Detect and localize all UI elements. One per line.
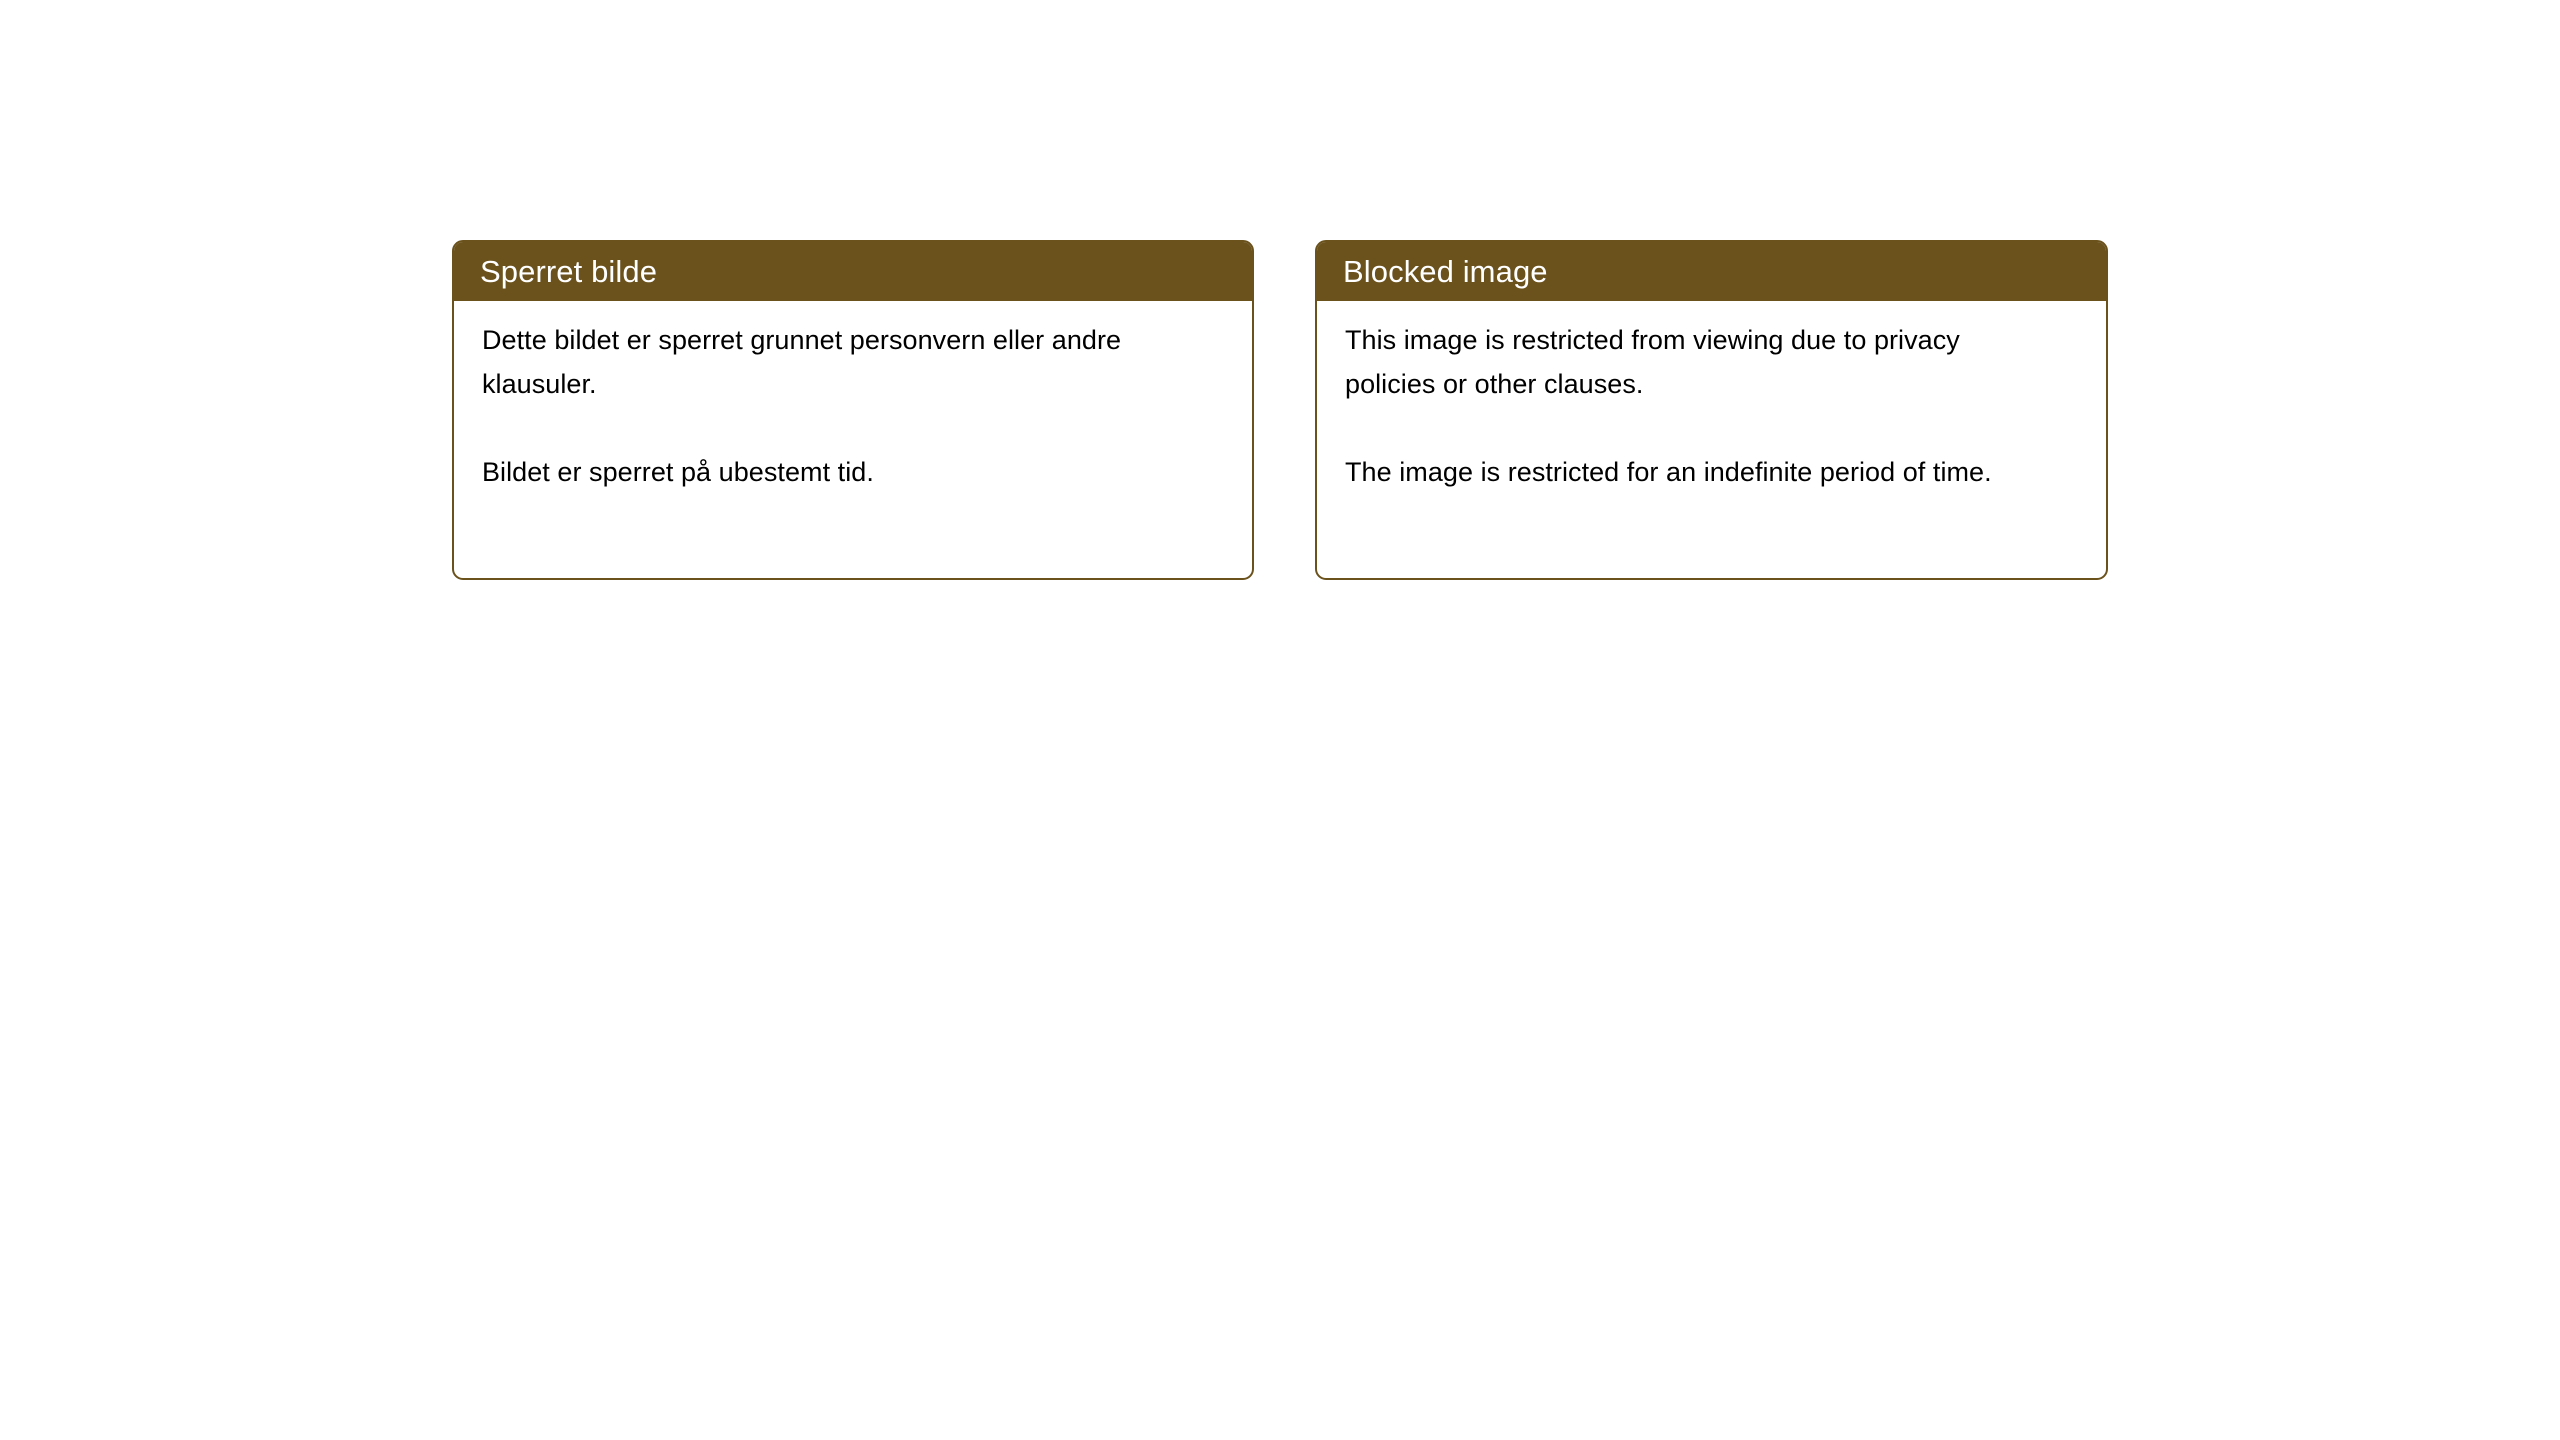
card-header-norwegian: Sperret bilde: [454, 242, 1252, 301]
card-paragraph-duration-norwegian: Bildet er sperret på ubestemt tid.: [482, 450, 1202, 494]
card-paragraph-duration-english: The image is restricted for an indefinit…: [1345, 450, 2045, 494]
blocked-image-card-english: Blocked image This image is restricted f…: [1315, 240, 2108, 580]
card-body-english: This image is restricted from viewing du…: [1317, 301, 2106, 494]
card-paragraph-reason-norwegian: Dette bildet er sperret grunnet personve…: [482, 318, 1202, 406]
blocked-image-notices: Sperret bilde Dette bildet er sperret gr…: [0, 0, 2560, 1440]
card-paragraph-reason-english: This image is restricted from viewing du…: [1345, 318, 2045, 406]
card-title-english: Blocked image: [1343, 256, 1548, 287]
blocked-image-card-norwegian: Sperret bilde Dette bildet er sperret gr…: [452, 240, 1254, 580]
card-header-english: Blocked image: [1317, 242, 2106, 301]
card-body-norwegian: Dette bildet er sperret grunnet personve…: [454, 301, 1252, 494]
card-title-norwegian: Sperret bilde: [480, 256, 657, 287]
